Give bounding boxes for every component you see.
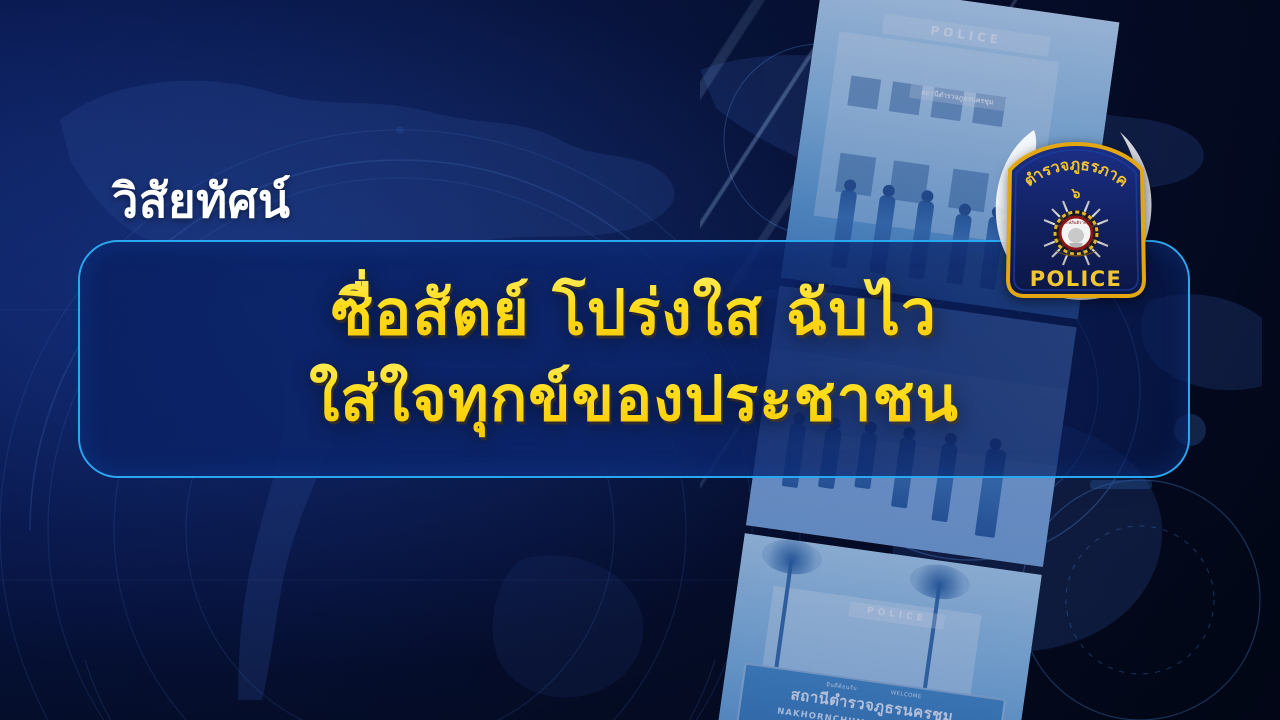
photo-entrance-sign: POLICE ยินดีต้อนรับ WELCOME สถานีตำรวจภู… [714, 533, 1042, 720]
badge-bottom-text: POLICE [1030, 267, 1123, 291]
badge-emblem-inner-text: พิทักษ์สันติราษฎร์ [1060, 220, 1092, 225]
police-badge: ตำรวจภูธรภาค ๖ [988, 122, 1164, 308]
page-title: วิสัยทัศน์ [112, 163, 291, 238]
badge-shield: ตำรวจภูธรภาค ๖ [1002, 140, 1150, 300]
vision-banner: POLICE สถานีตำรวจภูธรนครชุม [0, 0, 1280, 720]
slogan-line-2: ใส่ใจทุกข์ของประชาชน [80, 350, 1188, 448]
